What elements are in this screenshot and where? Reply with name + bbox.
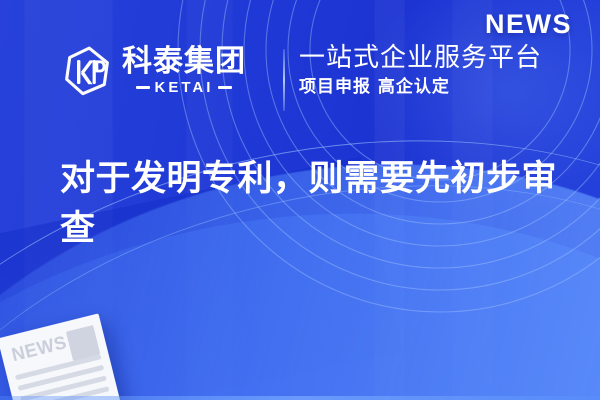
logo-english-row: KETAI [122, 79, 246, 96]
tagline-main: 一站式企业服务平台 [299, 44, 542, 74]
news-badge: NEWS [485, 9, 572, 40]
logo-dash-left [136, 86, 150, 89]
banner-header: NEWS 科泰集团 [0, 0, 600, 140]
news-banner: NEWS 科泰集团 [0, 0, 600, 400]
tagline-sub: 项目申报 高企认定 [299, 77, 542, 97]
logo-dash-right [218, 86, 232, 89]
brand-logo[interactable]: 科泰集团 KETAI [62, 44, 246, 98]
tagline-block: 一站式企业服务平台 项目申报 高企认定 [299, 44, 542, 97]
logo-english-name: KETAI [155, 79, 214, 96]
logo-wordmark: 科泰集团 KETAI [122, 46, 246, 97]
bottom-accent-strip [0, 396, 600, 400]
ketai-kp-diamond-logo-icon [62, 44, 112, 98]
header-divider [283, 49, 285, 111]
logo-chinese-name: 科泰集团 [122, 46, 246, 78]
page-title: 对于发明专利，则需要先初步审查 [60, 155, 565, 254]
